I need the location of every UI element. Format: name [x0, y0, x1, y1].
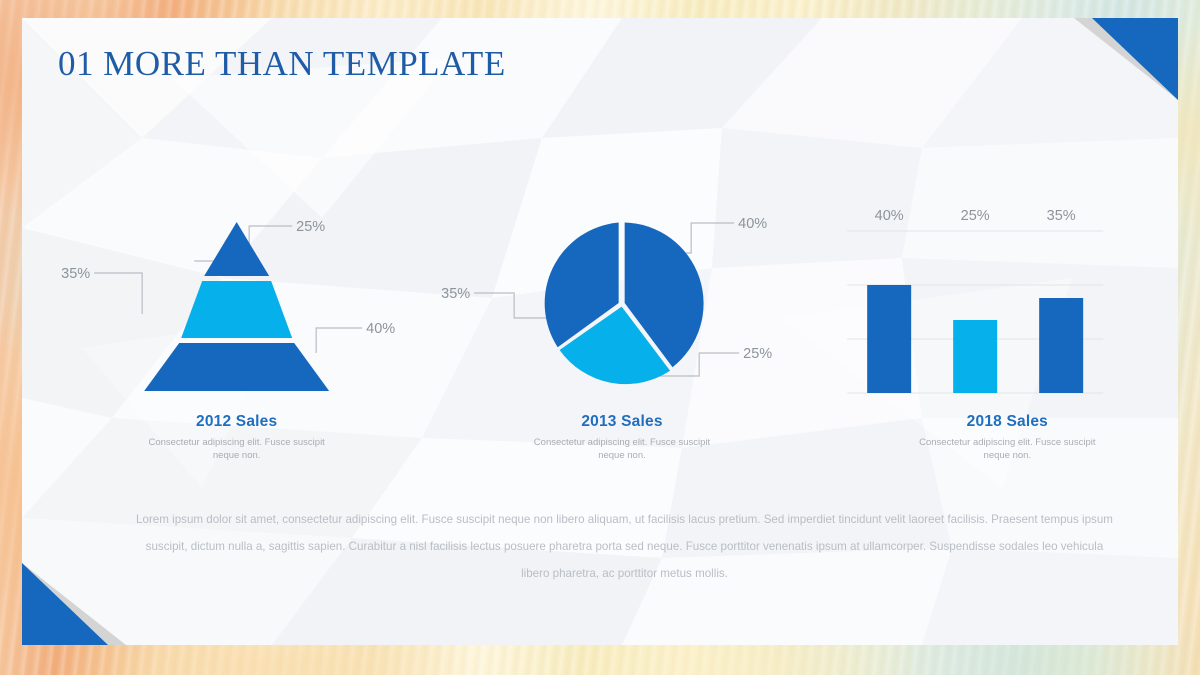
page-title: 01 MORE THAN TEMPLATE: [58, 44, 506, 84]
pie-label-25: 25%: [743, 346, 772, 362]
pie-slices: [545, 223, 704, 385]
bar-label-35: 35%: [1046, 208, 1075, 224]
charts-row: 25% 35% 40% 2012 Sales Consectetur adipi…: [44, 198, 1178, 468]
pie-chart[interactable]: 40% 25% 35%: [429, 198, 814, 413]
pyramid-label-25: 25%: [296, 219, 325, 235]
pyramid-chart[interactable]: 25% 35% 40%: [44, 198, 429, 413]
bar-25[interactable]: [953, 320, 997, 393]
chart-column-bar: 40% 25% 35% 2018 Sales Consectetur adipi…: [815, 198, 1178, 468]
caption-block-2018: 2018 Sales Consectetur adipiscing elit. …: [815, 413, 1178, 462]
slide: 01 MORE THAN TEMPLATE 25%: [0, 0, 1200, 675]
chart-column-pyramid: 25% 35% 40% 2012 Sales Consectetur adipi…: [44, 198, 429, 468]
caption-title-2012: 2012 Sales: [44, 413, 429, 431]
bar-40[interactable]: [867, 285, 911, 393]
caption-subtitle-2013: Consectetur adipiscing elit. Fusce susci…: [527, 436, 717, 462]
pyramid-segment-top[interactable]: [204, 222, 269, 276]
corner-decoration-top-right: [1074, 18, 1178, 100]
bar-chart[interactable]: 40% 25% 35%: [815, 198, 1178, 413]
caption-block-2013: 2013 Sales Consectetur adipiscing elit. …: [429, 413, 814, 462]
pyramid-label-40: 40%: [366, 321, 395, 337]
caption-block-2012: 2012 Sales Consectetur adipiscing elit. …: [44, 413, 429, 462]
caption-title-2013: 2013 Sales: [429, 413, 814, 431]
slide-content-panel: 01 MORE THAN TEMPLATE 25%: [22, 18, 1178, 645]
pyramid-segment-middle[interactable]: [181, 281, 292, 338]
caption-title-2018: 2018 Sales: [815, 413, 1178, 431]
pie-label-35: 35%: [441, 286, 470, 302]
pie-label-40: 40%: [738, 216, 767, 232]
bar-35[interactable]: [1039, 298, 1083, 393]
corner-decoration-bottom-left: [22, 563, 126, 645]
pyramid-segment-bottom[interactable]: [144, 343, 329, 391]
body-paragraph: Lorem ipsum dolor sit amet, consectetur …: [132, 506, 1117, 588]
pyramid-label-35: 35%: [61, 266, 90, 282]
bar-label-40: 40%: [874, 208, 903, 224]
bar-label-25: 25%: [960, 208, 989, 224]
caption-subtitle-2018: Consectetur adipiscing elit. Fusce susci…: [912, 436, 1102, 462]
chart-column-pie: 40% 25% 35% 2013 Sales Consectetur adipi…: [429, 198, 814, 468]
caption-subtitle-2012: Consectetur adipiscing elit. Fusce susci…: [142, 436, 332, 462]
